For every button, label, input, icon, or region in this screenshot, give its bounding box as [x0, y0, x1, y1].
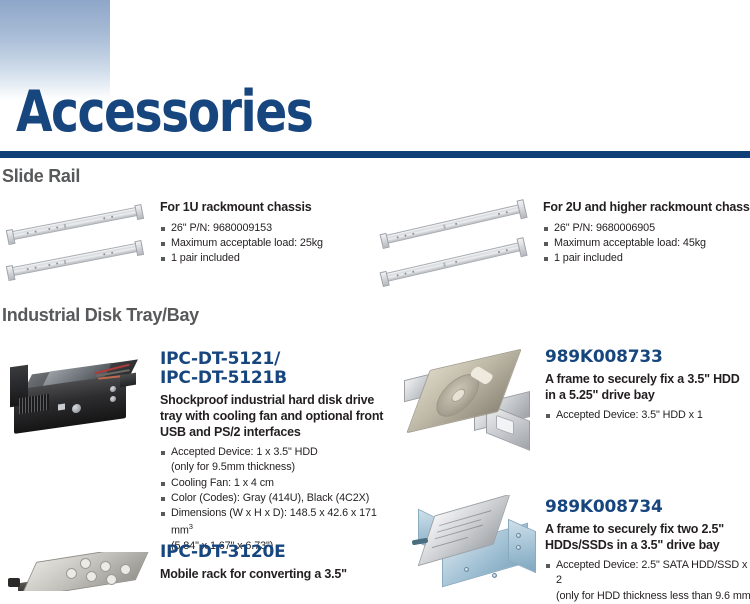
list-item: Accepted Device: 2.5" SATA HDD/SSD x 2 (… — [545, 558, 750, 604]
989k008734-photo — [412, 495, 544, 590]
spec-text: Accepted Device: 1 x 3.5" HDD — [171, 446, 318, 458]
989k008733-description: A frame to securely fix a 3.5" HDD in a … — [545, 371, 750, 403]
slide-rail-1u-photo — [2, 198, 154, 288]
slide-rail-2u-spec-list: 26" P/N: 9680006905 Maximum acceptable l… — [543, 221, 750, 267]
989k008734-info: 989K008734 A frame to securely fix two 2… — [545, 498, 750, 604]
spec-text: Dimensions (W x H x D): 148.5 x 42.6 x 1… — [171, 507, 377, 536]
slide-rail-1u-heading: For 1U rackmount chassis — [160, 200, 375, 216]
list-item: 1 pair included — [160, 251, 375, 266]
slide-rail-2u-photo — [378, 198, 536, 290]
list-item: Color (Codes): Gray (414U), Black (4C2X) — [160, 491, 390, 506]
ipc-dt-3120e-code: IPC-DT-3120E — [160, 543, 390, 562]
ipc-dt-5121-description: Shockproof industrial hard disk drive tr… — [160, 392, 390, 440]
ipc-dt-5121-code: IPC-DT-5121/ IPC-DT-5121B — [160, 350, 390, 388]
spec-continuation: (only for 9.5mm thickness) — [171, 460, 390, 475]
989k008734-spec-list: Accepted Device: 2.5" SATA HDD/SSD x 2 (… — [545, 558, 750, 604]
slide-rail-2u-heading: For 2U and higher rackmount chassis — [543, 200, 750, 216]
section-heading-industrial-disk-tray-bay: Industrial Disk Tray/Bay — [2, 305, 199, 326]
list-item: Maximum acceptable load: 25kg — [160, 236, 375, 251]
list-item: 1 pair included — [543, 251, 750, 266]
ipc-dt-3120e-description: Mobile rack for converting a 3.5" — [160, 566, 390, 582]
ipc-dt-3120e-photo — [4, 552, 152, 591]
989k008733-spec-list: Accepted Device: 3.5" HDD x 1 — [545, 408, 750, 423]
list-item: Accepted Device: 3.5" HDD x 1 — [545, 408, 750, 423]
spec-superscript: 3 — [189, 522, 193, 531]
section-heading-slide-rail: Slide Rail — [2, 166, 80, 187]
title-divider-rule — [0, 151, 750, 158]
list-item: Accepted Device: 1 x 3.5" HDD (only for … — [160, 445, 390, 476]
ipc-dt-5121-spec-list: Accepted Device: 1 x 3.5" HDD (only for … — [160, 445, 390, 554]
ipc-dt-5121-info: IPC-DT-5121/ IPC-DT-5121B Shockproof ind… — [160, 350, 390, 554]
slide-rail-1u-spec-list: 26" P/N: 9680009153 Maximum acceptable l… — [160, 221, 375, 267]
ipc-dt-5121-photo — [2, 348, 152, 453]
list-item: Maximum acceptable load: 45kg — [543, 236, 750, 251]
slide-rail-2u-info: For 2U and higher rackmount chassis 26" … — [543, 200, 750, 267]
product-code-line-1: IPC-DT-5121/ — [160, 349, 280, 369]
page-title: Accessories — [16, 84, 312, 141]
slide-rail-1u-info: For 1U rackmount chassis 26" P/N: 968000… — [160, 200, 375, 267]
spec-text: Accepted Device: 2.5" SATA HDD/SSD x 2 — [556, 559, 747, 586]
989k008733-code: 989K008733 — [545, 348, 750, 367]
product-code-line-2: IPC-DT-5121B — [160, 368, 287, 388]
list-item: 26" P/N: 9680009153 — [160, 221, 375, 236]
989k008733-photo — [400, 348, 540, 452]
989k008734-description: A frame to securely fix two 2.5" HDDs/SS… — [545, 521, 750, 553]
ipc-dt-3120e-info: IPC-DT-3120E Mobile rack for converting … — [160, 543, 390, 582]
list-item: 26" P/N: 9680006905 — [543, 221, 750, 236]
989k008734-code: 989K008734 — [545, 498, 750, 517]
list-item: Cooling Fan: 1 x 4 cm — [160, 476, 390, 491]
989k008733-info: 989K008733 A frame to securely fix a 3.5… — [545, 348, 750, 423]
